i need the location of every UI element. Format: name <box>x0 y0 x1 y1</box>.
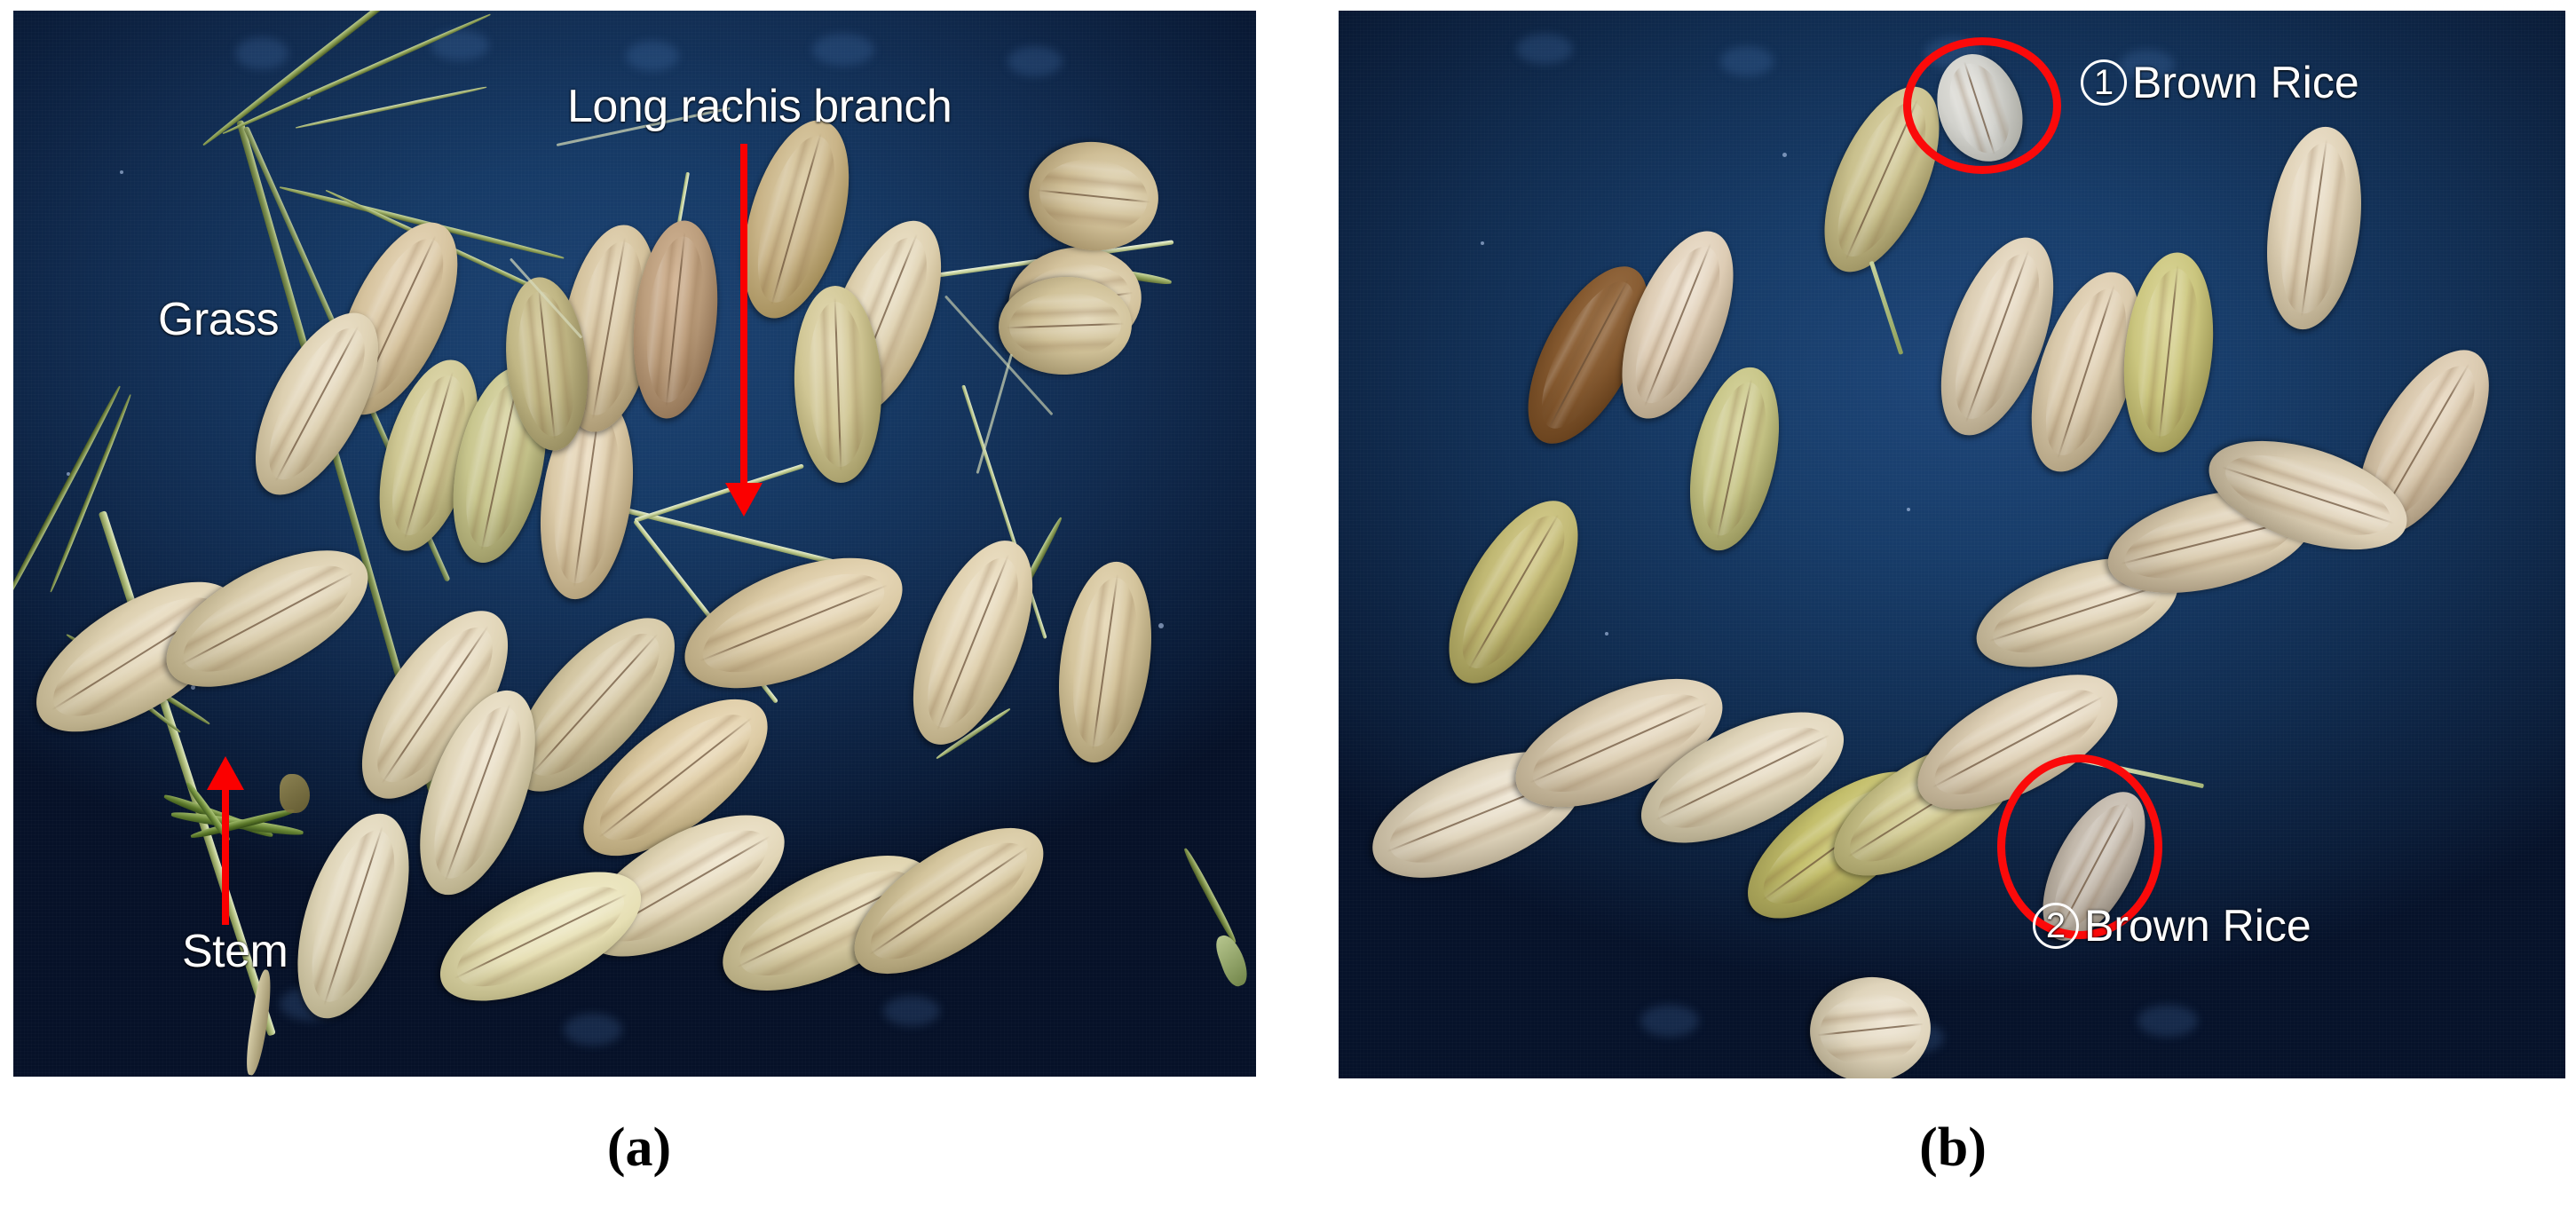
label-long-rachis-branch: Long rachis branch <box>567 80 952 133</box>
panel-b-photograph: 1 Brown Rice 2 Brown Rice <box>1339 11 2565 1078</box>
circled-number-2: 2 <box>2033 903 2079 949</box>
callout-brown-rice-1: 1 Brown Rice <box>2081 57 2359 108</box>
cloth-highlight <box>2137 1005 2198 1037</box>
rice-grain <box>997 274 1134 376</box>
dust-speck <box>1782 153 1787 157</box>
caption-panel-b: (b) <box>1864 1117 2042 1180</box>
callout-label-2: Brown Rice <box>2084 900 2311 951</box>
dust-speck <box>1158 623 1164 628</box>
plant-debris <box>280 774 310 813</box>
circled-number-1: 1 <box>2081 59 2127 106</box>
callout-brown-rice-2: 2 Brown Rice <box>2033 900 2311 951</box>
highlight-ellipse-brown-rice-1 <box>1903 37 2061 174</box>
dust-speck <box>1605 632 1608 636</box>
panel-a-photograph: Long rachis branch Grass Stem <box>13 11 1256 1077</box>
figure-root: Long rachis branch Grass Stem <box>0 0 2576 1216</box>
cloth-highlight <box>883 996 940 1026</box>
label-grass: Grass <box>158 293 279 346</box>
callout-label-1: Brown Rice <box>2132 57 2359 108</box>
cloth-highlight <box>1516 34 1573 64</box>
cloth-highlight <box>812 34 874 66</box>
cloth-highlight <box>235 37 288 69</box>
cloth-highlight <box>1720 46 1774 76</box>
caption-panel-a: (a) <box>550 1117 728 1180</box>
arrow-stem <box>207 756 244 925</box>
cloth-highlight <box>1007 46 1063 76</box>
cloth-highlight <box>1640 1005 1699 1037</box>
rice-grain <box>1805 971 1936 1078</box>
rice-grain <box>1023 136 1164 257</box>
label-stem: Stem <box>182 925 288 978</box>
dust-speck <box>1907 508 1910 511</box>
arrow-long-rachis-branch <box>725 144 763 517</box>
cloth-highlight <box>564 1014 622 1046</box>
cloth-highlight <box>626 41 679 71</box>
rice-grain <box>791 284 885 484</box>
dust-speck <box>1481 241 1484 245</box>
dust-speck <box>120 170 123 174</box>
